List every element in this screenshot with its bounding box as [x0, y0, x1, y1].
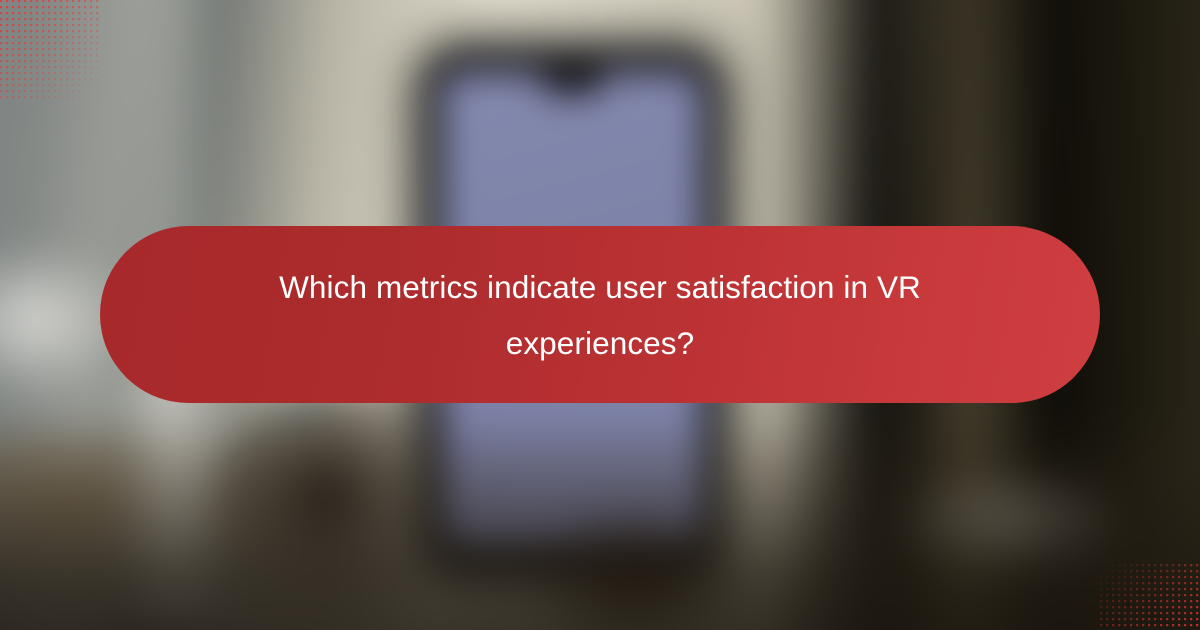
- headline-text: Which metrics indicate user satisfaction…: [220, 259, 980, 371]
- share-card-canvas: Which metrics indicate user satisfaction…: [0, 0, 1200, 630]
- headline-banner: Which metrics indicate user satisfaction…: [100, 226, 1100, 403]
- smartphone-notch-icon: [541, 68, 603, 94]
- background-floor-shadow: [0, 410, 1200, 630]
